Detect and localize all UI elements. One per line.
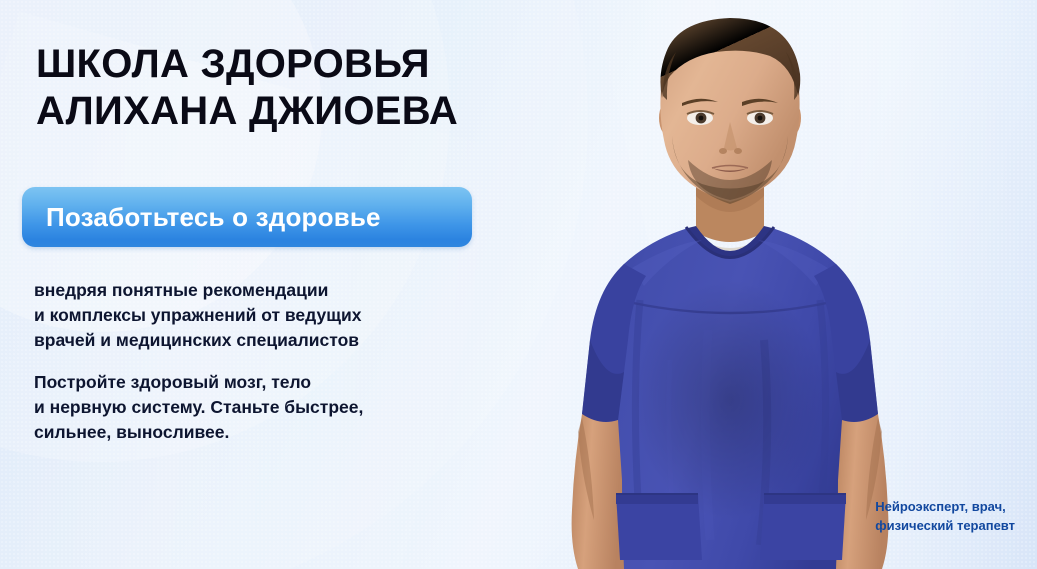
care-for-health-button[interactable]: Позаботьтесь о здоровье bbox=[22, 187, 472, 247]
description-paragraph-2: Постройте здоровый мозг, тело и нервную … bbox=[34, 370, 363, 445]
doctor-credentials-caption: Нейроэксперт, врач, физический терапевт bbox=[875, 498, 1015, 536]
promo-banner: ШКОЛА ЗДОРОВЬЯ АЛИХАНА ДЖИОЕВА Позаботьт… bbox=[0, 0, 1037, 569]
text-column: ШКОЛА ЗДОРОВЬЯ АЛИХАНА ДЖИОЕВА Позаботьт… bbox=[0, 0, 560, 569]
doctor-photo bbox=[520, 0, 940, 569]
description-paragraph-1: внедряя понятные рекомендации и комплекс… bbox=[34, 278, 361, 353]
care-for-health-button-label: Позаботьтесь о здоровье bbox=[46, 202, 381, 233]
page-title: ШКОЛА ЗДОРОВЬЯ АЛИХАНА ДЖИОЕВА bbox=[36, 41, 458, 135]
